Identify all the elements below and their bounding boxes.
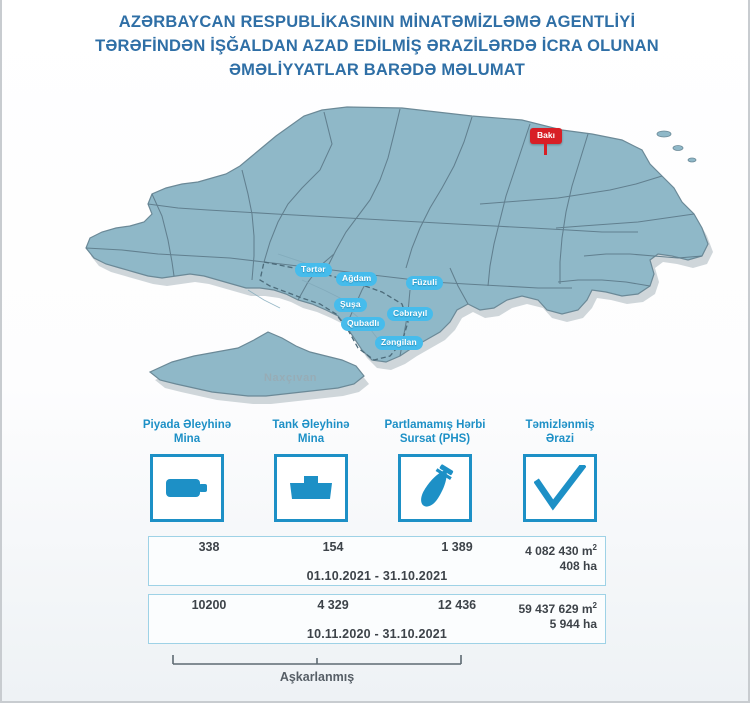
page-title-line-1: AZƏRBAYCAN RESPUBLİKASININ MİNATƏMİZLƏMƏ… xyxy=(2,10,750,34)
map-city-label-fuzuli[interactable]: Füzuli xyxy=(406,276,443,290)
stat-column-cleared-area: Təmizlənmiş Ərazi xyxy=(486,418,634,522)
checkmark-icon-box xyxy=(523,454,597,522)
stat-column-header-cleared-area: Təmizlənmiş Ərazi xyxy=(486,418,634,448)
detected-items-bracket-label: Aşkarlanmış xyxy=(172,670,462,684)
value-anti-personnel-mines-total: 10200 xyxy=(149,598,269,612)
anti-personnel-mine-icon xyxy=(165,475,209,501)
data-row-monthly: 338 154 1 389 4 082 430 m2 408 ha 01.10.… xyxy=(148,536,606,586)
value-cleared-area-total-ha: 5 944 ha xyxy=(550,617,597,631)
unexploded-ordnance-icon-box xyxy=(398,454,472,522)
map-islands xyxy=(657,131,696,162)
anti-tank-mine-icon-box xyxy=(274,454,348,522)
checkmark-icon xyxy=(534,465,586,511)
value-cleared-area-ha: 408 ha xyxy=(560,559,597,573)
detected-items-bracket: Aşkarlanmış xyxy=(172,654,462,694)
value-cleared-area-exponent: 2 xyxy=(593,543,597,552)
value-cleared-area-sqm: 4 082 430 m xyxy=(525,544,592,558)
anti-tank-mine-icon xyxy=(287,474,335,502)
value-cleared-area: 4 082 430 m2 408 ha xyxy=(479,540,597,574)
value-anti-tank-mines: 154 xyxy=(273,540,393,554)
unexploded-ordnance-icon xyxy=(415,463,455,513)
map-exclave-label-naxcivan: Naxçıvan xyxy=(264,372,317,384)
data-row-cumulative: 10200 4 329 12 436 59 437 629 m2 5 944 h… xyxy=(148,594,606,644)
value-anti-personnel-mines: 338 xyxy=(149,540,269,554)
anti-personnel-mine-icon-box xyxy=(150,454,224,522)
map-landmass xyxy=(86,107,708,362)
data-row-cumulative-values: 10200 4 329 12 436 59 437 629 m2 5 944 h… xyxy=(149,595,605,627)
page-title: AZƏRBAYCAN RESPUBLİKASININ MİNATƏMİZLƏMƏ… xyxy=(2,10,750,82)
data-row-monthly-values: 338 154 1 389 4 082 430 m2 408 ha xyxy=(149,537,605,569)
map-city-label-cebrayil[interactable]: Cəbrayıl xyxy=(387,307,433,321)
value-cleared-area-total-exponent: 2 xyxy=(593,601,597,610)
map-svg xyxy=(2,104,750,414)
statistics-section: Piyada Əleyhinə Mina Tank Əleyhinə Mina xyxy=(2,418,750,703)
value-anti-tank-mines-total: 4 329 xyxy=(273,598,393,612)
map-city-label-zengilan[interactable]: Zəngilan xyxy=(375,336,423,350)
map-city-label-susa[interactable]: Şuşa xyxy=(334,298,367,312)
value-cleared-area-total-sqm: 59 437 629 m xyxy=(518,602,592,616)
value-cleared-area-total: 59 437 629 m2 5 944 ha xyxy=(479,598,597,632)
infographic-page: AZƏRBAYCAN RESPUBLİKASININ MİNATƏMİZLƏMƏ… xyxy=(0,0,750,703)
page-title-line-2: TƏRƏFİNDƏN İŞĞALDAN AZAD EDİLMİŞ ƏRAZİLƏ… xyxy=(2,34,750,58)
page-title-line-3: ƏMƏLİYYATLAR BARƏDƏ MƏLUMAT xyxy=(2,58,750,82)
map-capital-pin-baki[interactable]: Bakı xyxy=(530,128,562,144)
bracket-svg xyxy=(172,654,462,668)
map-city-label-terter[interactable]: Tərtər xyxy=(295,263,332,277)
map-city-label-agdam[interactable]: Ağdam xyxy=(336,272,377,286)
azerbaijan-map: Tərtər Ağdam Füzuli Şuşa Cəbrayıl Qubadl… xyxy=(2,104,750,414)
map-city-label-qubadli[interactable]: Qubadlı xyxy=(341,317,385,331)
